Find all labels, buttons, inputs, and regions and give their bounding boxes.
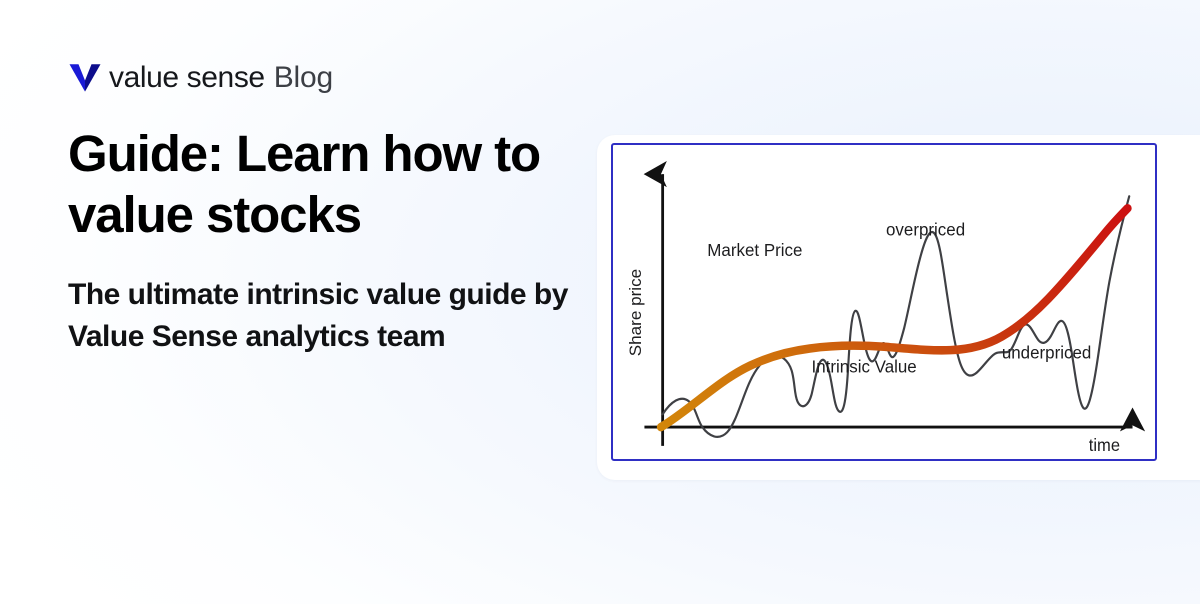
intrinsic-value-chart: Share price time Market Price Intrinsic … [613, 145, 1157, 461]
value-sense-v-checkmark-icon [68, 63, 102, 93]
y-axis-label: Share price [626, 269, 645, 356]
x-axis-label: time [1089, 436, 1120, 455]
annotation-intrinsic-value: Intrinsic Value [812, 356, 917, 376]
page-title: Guide: Learn how to value stocks [68, 124, 613, 245]
annotation-market-price: Market Price [707, 240, 802, 260]
brand-section-label: Blog [274, 63, 333, 93]
annotation-overpriced: overpriced [886, 219, 965, 239]
chart-frame: Share price time Market Price Intrinsic … [611, 143, 1157, 461]
annotation-underpriced: underpriced [1002, 342, 1092, 362]
hero-banner: value sense Blog Guide: Learn how to val… [0, 0, 1200, 604]
brand-name: value sense [109, 63, 265, 93]
brand-lockup[interactable]: value sense Blog [68, 57, 333, 99]
chart-axes [644, 174, 1132, 446]
page-subtitle: The ultimate intrinsic value guide by Va… [68, 274, 568, 357]
